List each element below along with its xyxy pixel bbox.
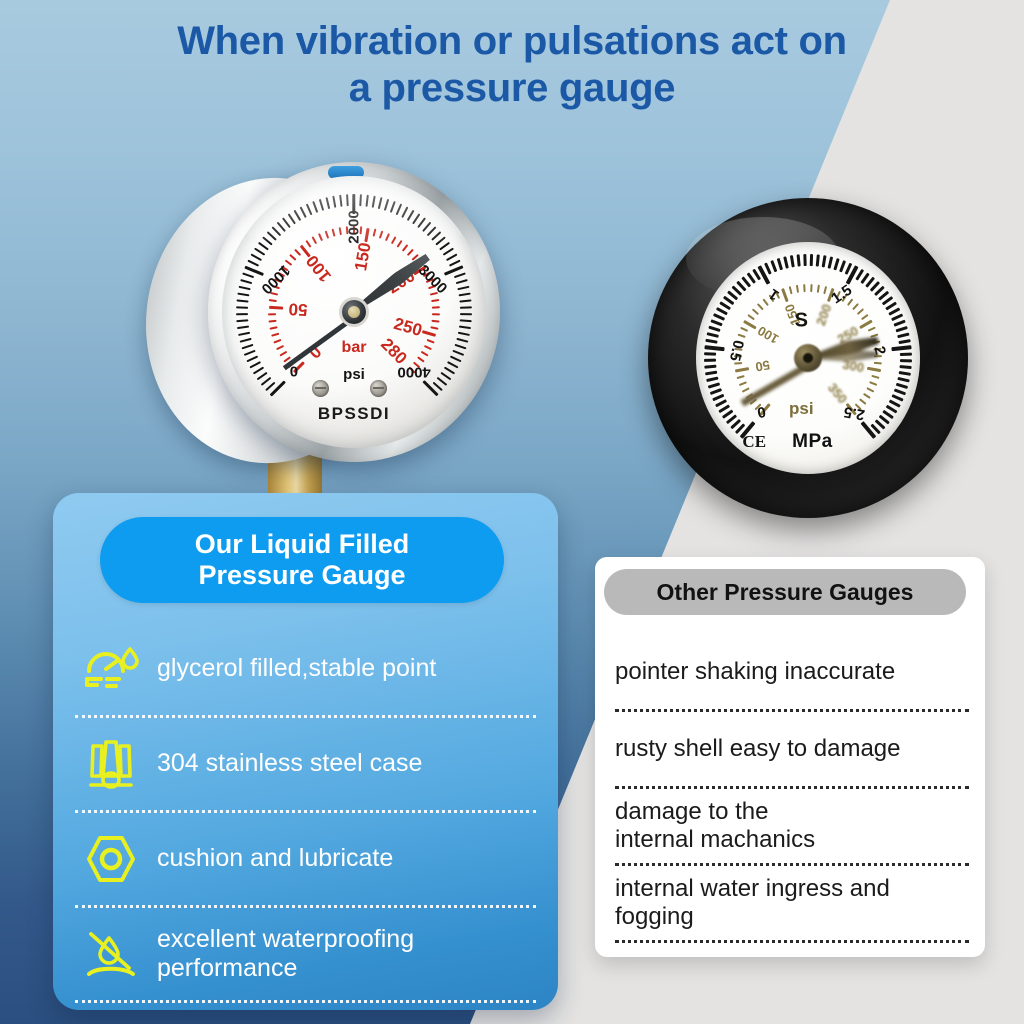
gauge-droplet-icon [79,641,143,697]
feature-row: 304 stainless steel case [75,718,536,813]
gauge-screw-right [370,380,387,397]
issue-label-line-1: pointer shaking inaccurate [615,658,895,686]
feature-row: excellent waterproofing performance [75,908,536,1003]
feature-label-line-1: excellent waterproofing [157,925,414,953]
feature-label: cushion and lubricate [143,844,393,874]
issue-label-line-2: fogging [615,903,890,931]
feature-label: 304 stainless steel case [143,749,422,779]
our-gauge-title-line-1: Our Liquid Filled [195,529,409,560]
feature-label-line-2: performance [157,954,297,982]
other-gauge-issue-list: pointer shaking inaccurate rusty shell e… [615,635,969,943]
issue-row: internal water ingress and fogging [615,866,969,943]
gauge-bezel: 01000200030004000050100150200250280 bar … [208,162,500,462]
feature-row: cushion and lubricate [75,813,536,908]
liquid-filled-gauge-image: 01000200030004000050100150200250280 bar … [140,150,490,520]
other-gauge-dial-face: 00.511.522.550100150200250300350 S psi M… [696,242,920,474]
other-gauge-center-mark: S [795,309,808,332]
page-title: When vibration or pulsations act on a pr… [0,18,1024,112]
waterproof-droplet-icon [79,926,143,982]
issue-row: rusty shell easy to damage [615,712,969,789]
ce-mark-icon: CE [742,432,766,452]
other-gauge-panel: Other Pressure Gauges pointer shaking in… [595,557,985,957]
gauge-dial-face: 01000200030004000050100150200250280 bar … [222,176,486,448]
gauge-unit-bar: bar [342,339,367,357]
our-gauge-panel: Our Liquid Filled Pressure Gauge glycero… [53,493,558,1010]
other-gauge-title: Other Pressure Gauges [657,579,914,606]
gauge-unit-psi: psi [343,366,365,383]
gauge-brand-label: BPSSDI [318,404,390,424]
feature-label: excellent waterproofing performance [143,925,530,984]
issue-row: damage to the internal machanics [615,789,969,866]
gauge-needle-hub [342,300,366,324]
gauge-screw-left [312,380,329,397]
page-title-line-2: a pressure gauge [0,65,1024,112]
other-gauge-needle-hub [794,344,822,372]
stainless-case-icon [79,736,143,792]
other-gauge-unit-psi: psi [789,399,814,419]
our-gauge-feature-list: glycerol filled,stable point 304 stainle… [75,623,536,1003]
issue-label-line-2: internal machanics [615,826,815,854]
feature-row: glycerol filled,stable point [75,623,536,718]
other-gauge-image: 00.511.522.550100150200250300350 S psi M… [648,198,968,518]
issue-row: pointer shaking inaccurate [615,635,969,712]
issue-label-line-1: internal water ingress and [615,875,890,903]
our-gauge-title-pill: Our Liquid Filled Pressure Gauge [100,517,504,603]
issue-label-line-1: damage to the [615,798,815,826]
hex-nut-icon [79,831,143,887]
other-gauge-unit-mpa: MPa [792,431,833,453]
page-title-line-1: When vibration or pulsations act on [0,18,1024,65]
feature-label: glycerol filled,stable point [143,654,436,684]
other-gauge-title-pill: Other Pressure Gauges [604,569,966,615]
our-gauge-title-line-2: Pressure Gauge [195,560,409,591]
issue-label-line-1: rusty shell easy to damage [615,735,900,763]
